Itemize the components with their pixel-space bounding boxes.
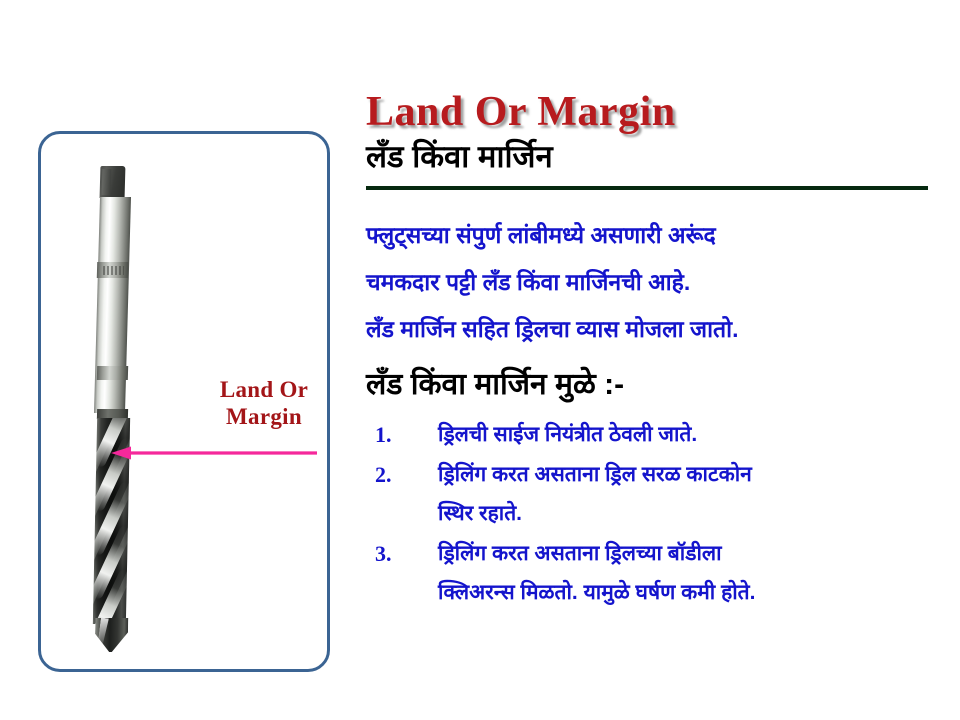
list-item-line: क्लिअरन्स मिळतो. यामुळे घर्षण कमी होते.	[438, 573, 755, 612]
list-item-line: ड्रिलची साईज नियंत्रीत ठेवली जाते.	[438, 415, 697, 454]
list-item-line: स्थिर रहाते.	[438, 494, 752, 533]
callout-label: Land Or Margin	[204, 376, 324, 430]
drill-tang	[100, 166, 126, 198]
paragraph-line: चमकदार पट्टी लँड किंवा मार्जिनची आहे.	[366, 259, 942, 306]
page-title-marathi: लँड किंवा मार्जिन	[366, 138, 942, 176]
content-column: Land Or Margin लँड किंवा मार्जिन फ्लुट्स…	[366, 88, 942, 613]
shank-band-2	[97, 366, 128, 380]
slide-root: Land Or Margin Land Or Margin लँड किंवा …	[0, 0, 960, 720]
drill-bit-illustration	[83, 166, 149, 654]
list-item-text: ड्रिलची साईज नियंत्रीत ठेवली जाते.	[438, 415, 697, 454]
section-subheading: लँड किंवा मार्जिन मुळे :-	[366, 365, 942, 405]
list-item-text: ड्रिलिंग करत असताना ड्रिलच्या बॉडीला क्ल…	[438, 534, 755, 612]
paragraph-line: फ्लुट्सच्या संपुर्ण लांबीमध्ये असणारी अर…	[366, 212, 942, 259]
image-panel: Land Or Margin	[38, 131, 330, 672]
list-item: 1. ड्रिलची साईज नियंत्रीत ठेवली जाते.	[366, 415, 942, 454]
title-divider	[366, 186, 928, 190]
list-item-text: ड्रिलिंग करत असताना ड्रिल सरळ काटकोन स्थ…	[438, 455, 752, 533]
description-paragraph: फ्लुट्सच्या संपुर्ण लांबीमध्ये असणारी अर…	[366, 212, 942, 353]
list-item-number: 1.	[366, 415, 438, 454]
shank-stamp-marking	[103, 266, 124, 275]
callout-arrow-icon	[105, 445, 318, 461]
paragraph-line: लँड मार्जिन सहित ड्रिलचा व्यास मोजला जात…	[366, 306, 942, 353]
numbered-list: 1. ड्रिलची साईज नियंत्रीत ठेवली जाते. 2.…	[366, 415, 942, 612]
callout-label-line1: Land Or	[220, 377, 308, 402]
drill-taper-shank	[94, 197, 131, 413]
page-title-english: Land Or Margin	[366, 88, 942, 136]
list-item-number: 2.	[366, 455, 438, 494]
list-item-line: ड्रिलिंग करत असताना ड्रिल सरळ काटकोन	[438, 455, 752, 494]
list-item-number: 3.	[366, 534, 438, 573]
list-item: 2. ड्रिलिंग करत असताना ड्रिल सरळ काटकोन …	[366, 455, 942, 533]
callout-label-line2: Margin	[226, 404, 302, 429]
list-item-line: ड्रिलिंग करत असताना ड्रिलच्या बॉडीला	[438, 534, 755, 573]
list-item: 3. ड्रिलिंग करत असताना ड्रिलच्या बॉडीला …	[366, 534, 942, 612]
